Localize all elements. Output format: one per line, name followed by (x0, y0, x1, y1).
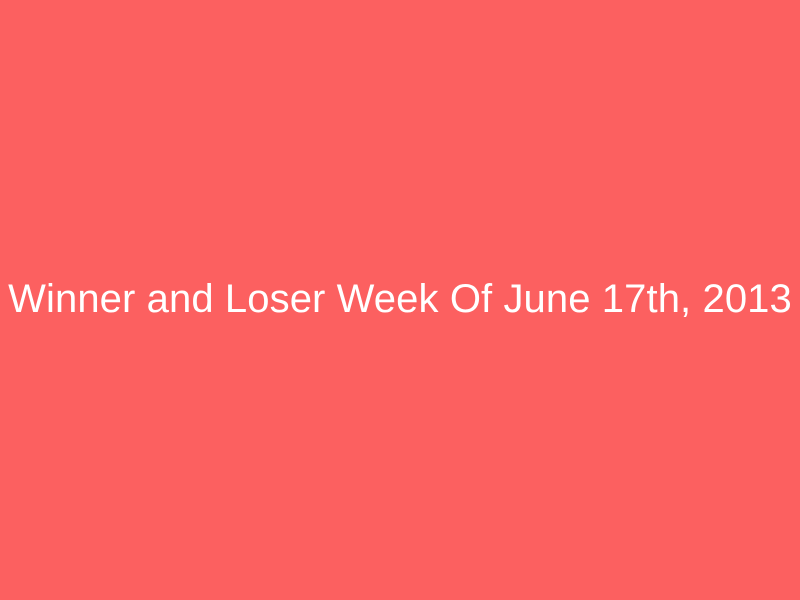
title-placard: Winner and Loser Week Of June 17th, 2013 (0, 0, 800, 600)
placard-caption: Winner and Loser Week Of June 17th, 2013 (0, 276, 800, 323)
